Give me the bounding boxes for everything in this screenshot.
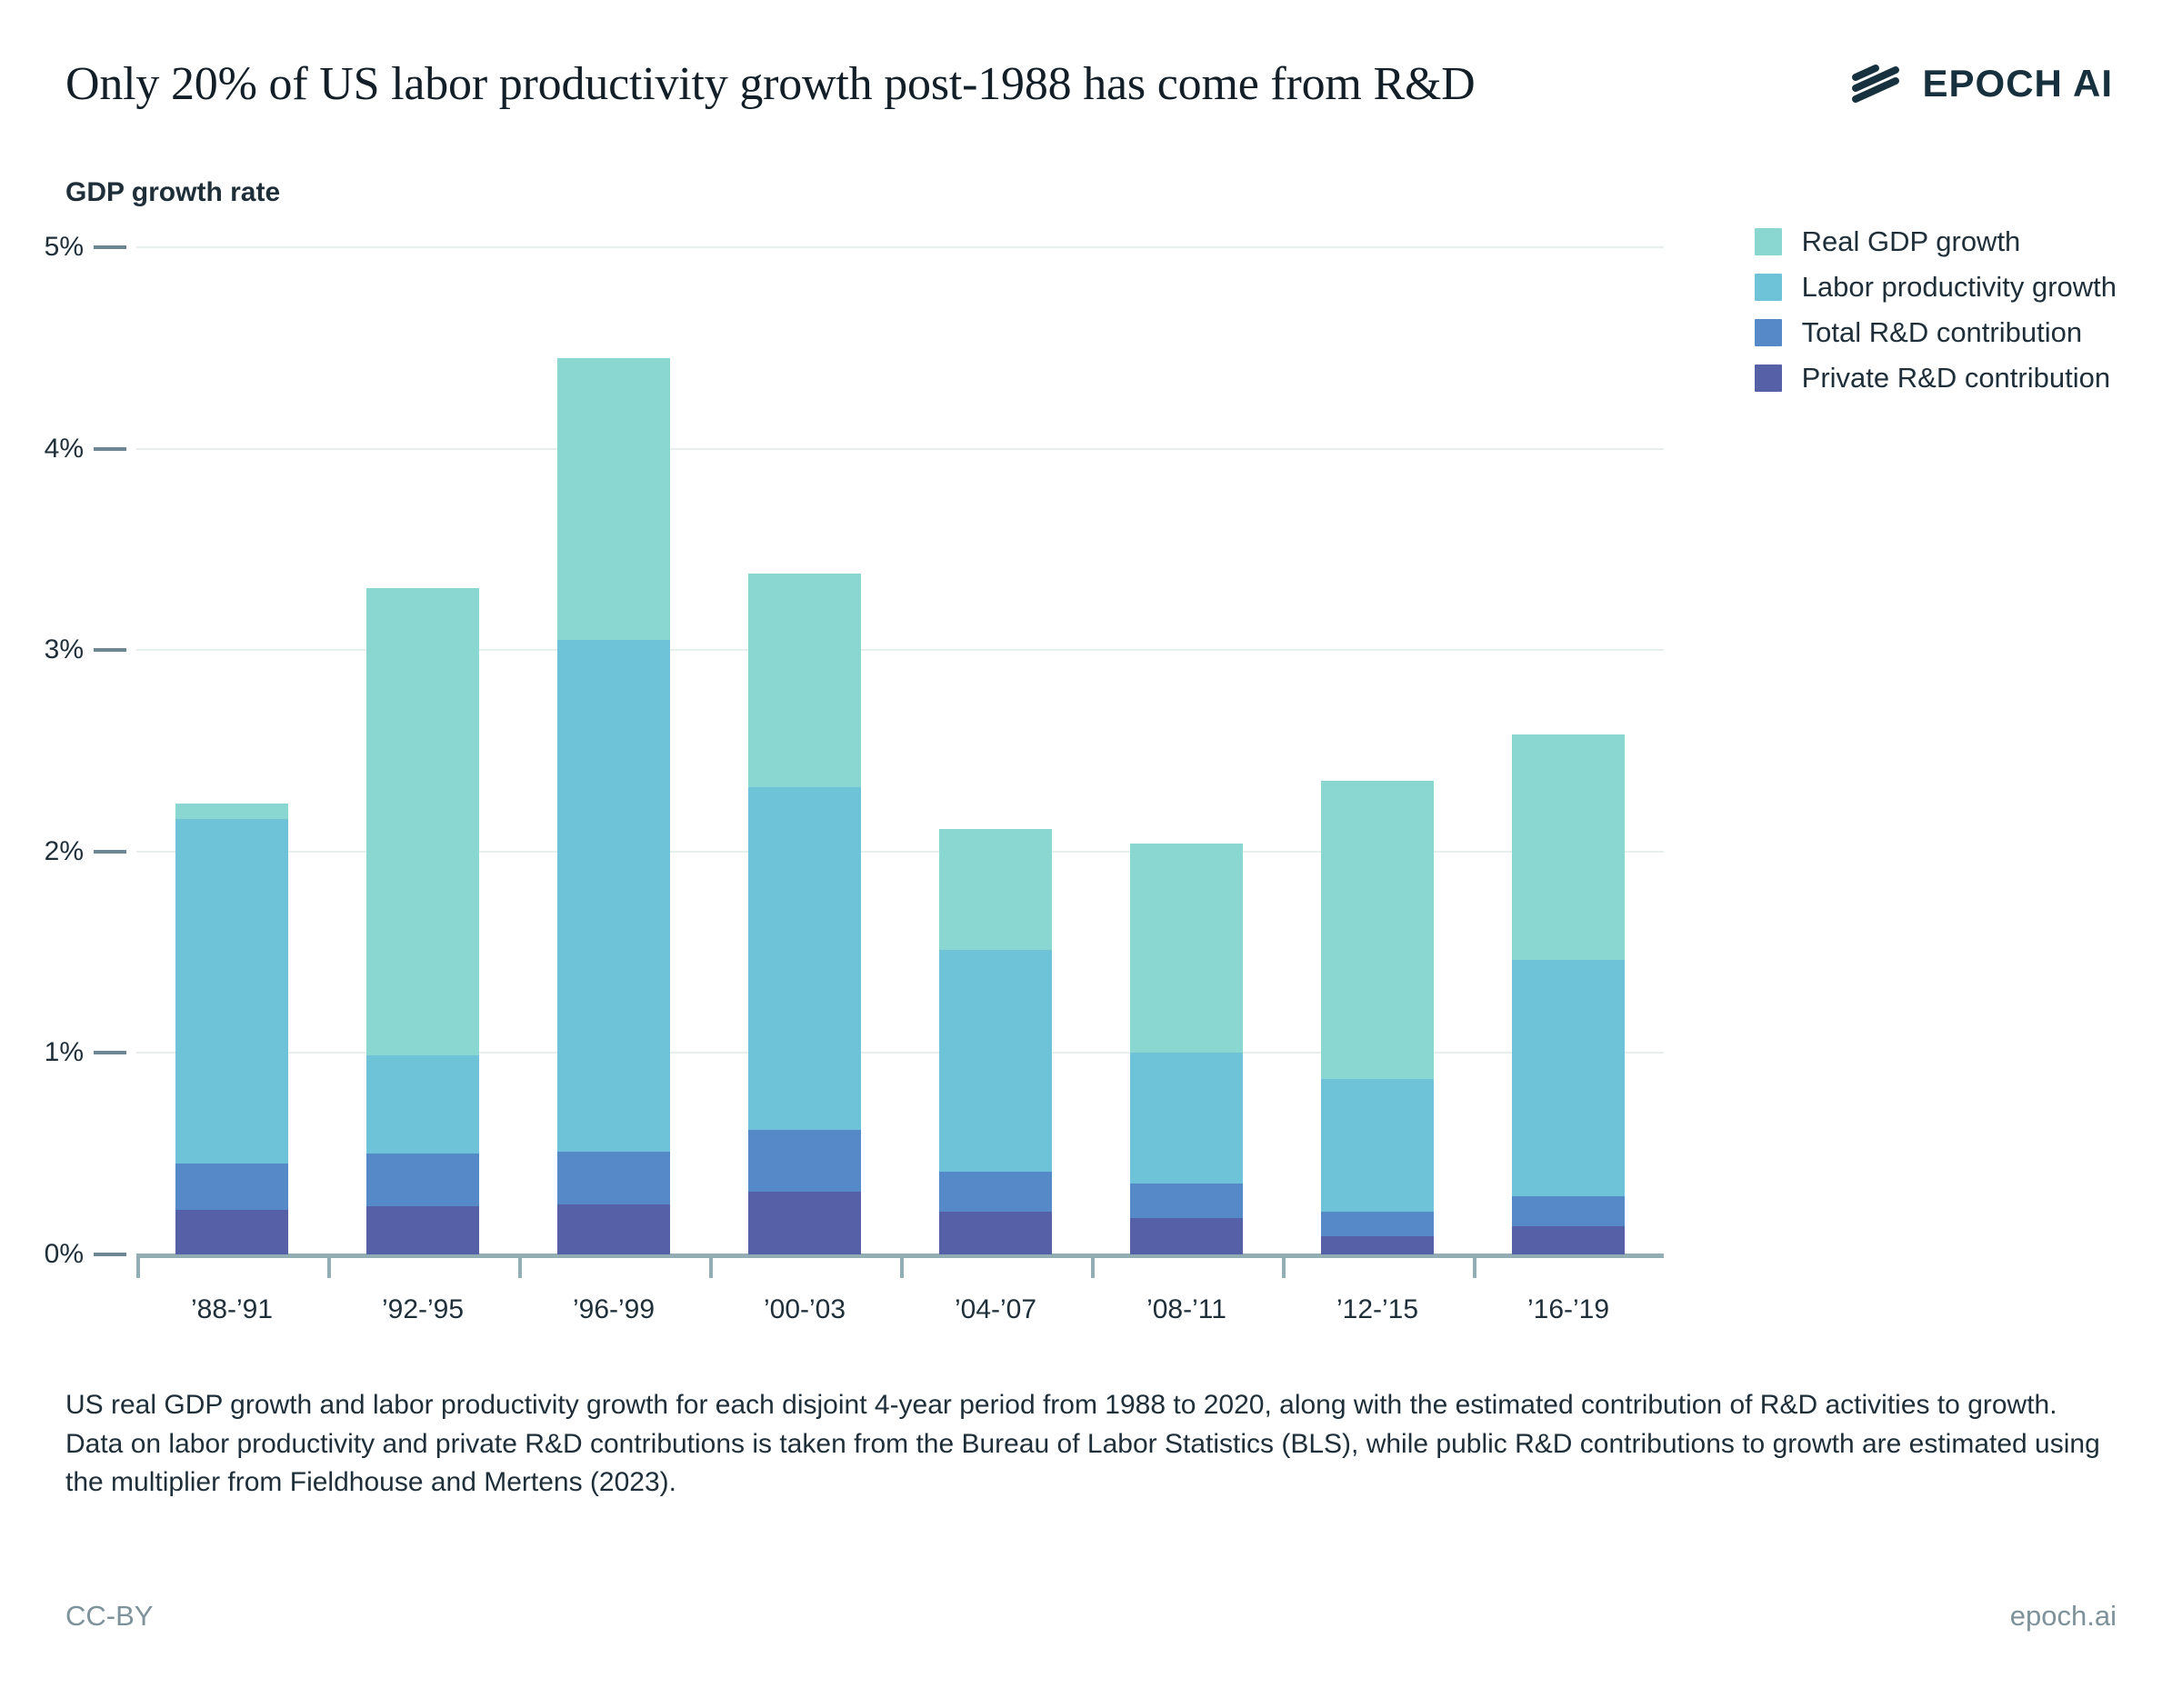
x-tick-mark [518,1254,522,1278]
bar[interactable] [1512,734,1625,1254]
bar-segment-real-gdp [1321,781,1434,1079]
y-axis-title: GDP growth rate [65,177,280,208]
bar-segment-total-rd [939,1172,1052,1212]
bar-slot [1091,247,1282,1254]
legend-label: Private R&D contribution [1802,362,2110,395]
y-tick-mark [94,850,126,854]
legend-swatch-icon [1755,274,1782,301]
chart-page: Only 20% of US labor productivity growth… [0,0,2182,1708]
bar-segment-total-rd [366,1154,479,1206]
x-axis: ’88-’91’92-’95’96-’99’00-’03’04-’07’08-’… [136,1254,1664,1354]
x-tick-label: ’16-’19 [1527,1294,1609,1325]
bar-segment-total-rd [175,1164,288,1210]
bar-segment-private-rd [939,1212,1052,1254]
brand-logo: EPOCH AI [1848,62,2117,105]
x-tick-mark [1282,1254,1286,1278]
x-tick-mark [900,1254,904,1278]
x-tick-mark [136,1254,140,1278]
bar[interactable] [748,574,861,1254]
bar-segment-labor-productivity [748,787,861,1130]
bar-segment-private-rd [557,1204,670,1254]
bar[interactable] [1130,844,1243,1254]
legend-swatch-icon [1755,319,1782,346]
bar-segment-labor-productivity [175,819,288,1164]
bar[interactable] [1321,781,1434,1254]
bar[interactable] [366,588,479,1254]
bar-segment-total-rd [748,1130,861,1193]
bar-segment-labor-productivity [1130,1053,1243,1184]
legend-item[interactable]: Real GDP growth [1755,225,2021,258]
bar-segment-private-rd [366,1206,479,1254]
bar-segment-real-gdp [748,574,861,787]
bar-segment-total-rd [1130,1184,1243,1218]
x-tick-label: ’96-’99 [573,1294,655,1325]
y-tick-label: 0% [0,1239,84,1270]
license-label: CC-BY [65,1600,153,1633]
bar-segment-real-gdp [175,804,288,820]
x-tick-label: ’92-’95 [382,1294,464,1325]
bar-segment-labor-productivity [939,950,1052,1172]
legend-label: Real GDP growth [1802,225,2021,258]
y-tick-mark [94,1051,126,1054]
bar-segment-private-rd [748,1192,861,1254]
bar-segment-real-gdp [939,829,1052,950]
bar-segment-labor-productivity [1321,1079,1434,1212]
legend-item[interactable]: Total R&D contribution [1755,316,2082,349]
epoch-logo-icon [1848,62,1903,105]
bar-slot [1473,247,1664,1254]
page-header: Only 20% of US labor productivity growth… [65,47,2117,120]
legend-swatch-icon [1755,228,1782,255]
bar-segment-total-rd [1512,1196,1625,1226]
plot-area: 0%1%2%3%4%5% [136,247,1664,1254]
bar-segment-labor-productivity [366,1055,479,1154]
bar[interactable] [557,358,670,1254]
y-tick-label: 4% [0,434,84,464]
bar-segment-real-gdp [1130,844,1243,1053]
x-tick-mark [327,1254,331,1278]
bar-segment-total-rd [1321,1212,1434,1236]
x-tick-label: ’00-’03 [764,1294,846,1325]
bar-segment-private-rd [1130,1218,1243,1254]
y-tick-mark [94,245,126,249]
y-tick-label: 2% [0,836,84,867]
y-tick-mark [94,648,126,652]
bar-segment-total-rd [557,1152,670,1204]
site-label: epoch.ai [2010,1600,2117,1633]
bar-slot [518,247,709,1254]
x-tick-label: ’04-’07 [955,1294,1036,1325]
bar-segment-real-gdp [366,588,479,1055]
bar-segment-labor-productivity [1512,960,1625,1195]
bar-slot [327,247,518,1254]
y-tick-mark [94,447,126,451]
chart-caption: US real GDP growth and labor productivit… [65,1386,2117,1503]
x-tick-label: ’88-’91 [191,1294,273,1325]
bar-slot [900,247,1091,1254]
x-tick-mark [1473,1254,1476,1278]
y-tick-mark [94,1253,126,1256]
legend-item[interactable]: Labor productivity growth [1755,271,2117,304]
y-tick-label: 3% [0,634,84,665]
legend-item[interactable]: Private R&D contribution [1755,362,2110,395]
brand-name: EPOCH AI [1923,62,2113,105]
bar-segment-private-rd [1321,1236,1434,1254]
bar-slot [709,247,900,1254]
page-title: Only 20% of US labor productivity growth… [65,57,1476,111]
y-tick-label: 1% [0,1037,84,1068]
legend-label: Labor productivity growth [1802,271,2117,304]
bar[interactable] [939,829,1052,1254]
x-tick-label: ’08-’11 [1146,1294,1226,1325]
legend-swatch-icon [1755,365,1782,392]
bar[interactable] [175,804,288,1254]
bar-segment-private-rd [1512,1226,1625,1254]
bar-segment-labor-productivity [557,640,670,1152]
bar-segment-real-gdp [1512,734,1625,960]
bar-slot [1282,247,1473,1254]
x-tick-label: ’12-’15 [1336,1294,1418,1325]
legend-label: Total R&D contribution [1802,316,2082,349]
x-tick-mark [1091,1254,1095,1278]
bar-group [136,247,1664,1254]
bar-segment-private-rd [175,1210,288,1254]
bar-segment-real-gdp [557,358,670,640]
chart-legend: Real GDP growthLabor productivity growth… [1755,225,2117,395]
bar-slot [136,247,327,1254]
page-footer: CC-BY epoch.ai [65,1600,2117,1633]
y-tick-label: 5% [0,232,84,263]
x-tick-mark [709,1254,713,1278]
